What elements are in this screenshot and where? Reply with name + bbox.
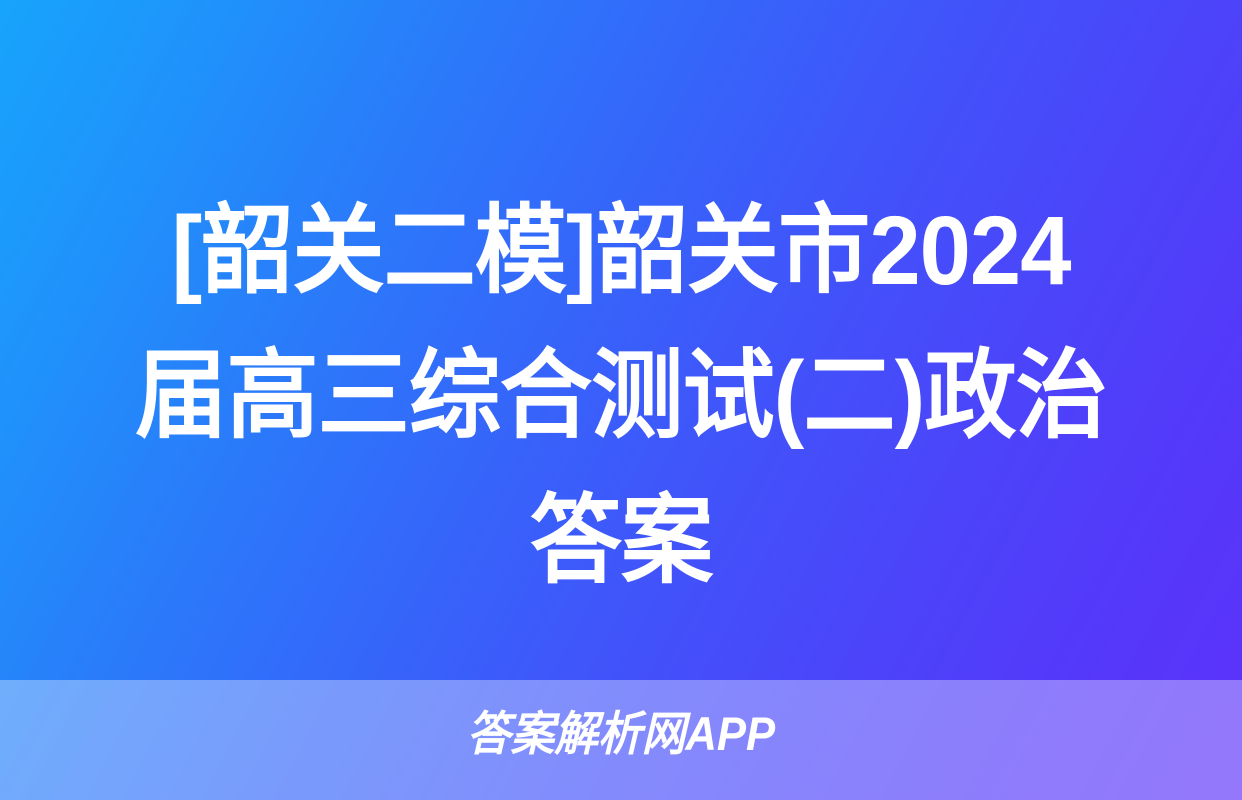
title-line-1: [韶关二模]韶关市2024 — [113, 178, 1130, 323]
title-line-3: 答案 — [113, 468, 1130, 613]
title-line-2: 届高三综合测试(二)政治 — [113, 323, 1130, 468]
poster-card: [韶关二模]韶关市2024 届高三综合测试(二)政治 答案 答案解析网APP — [0, 0, 1242, 800]
page-title: [韶关二模]韶关市2024 届高三综合测试(二)政治 答案 — [0, 178, 1242, 613]
watermark-app-label: 答案解析网APP — [43, 705, 1198, 763]
